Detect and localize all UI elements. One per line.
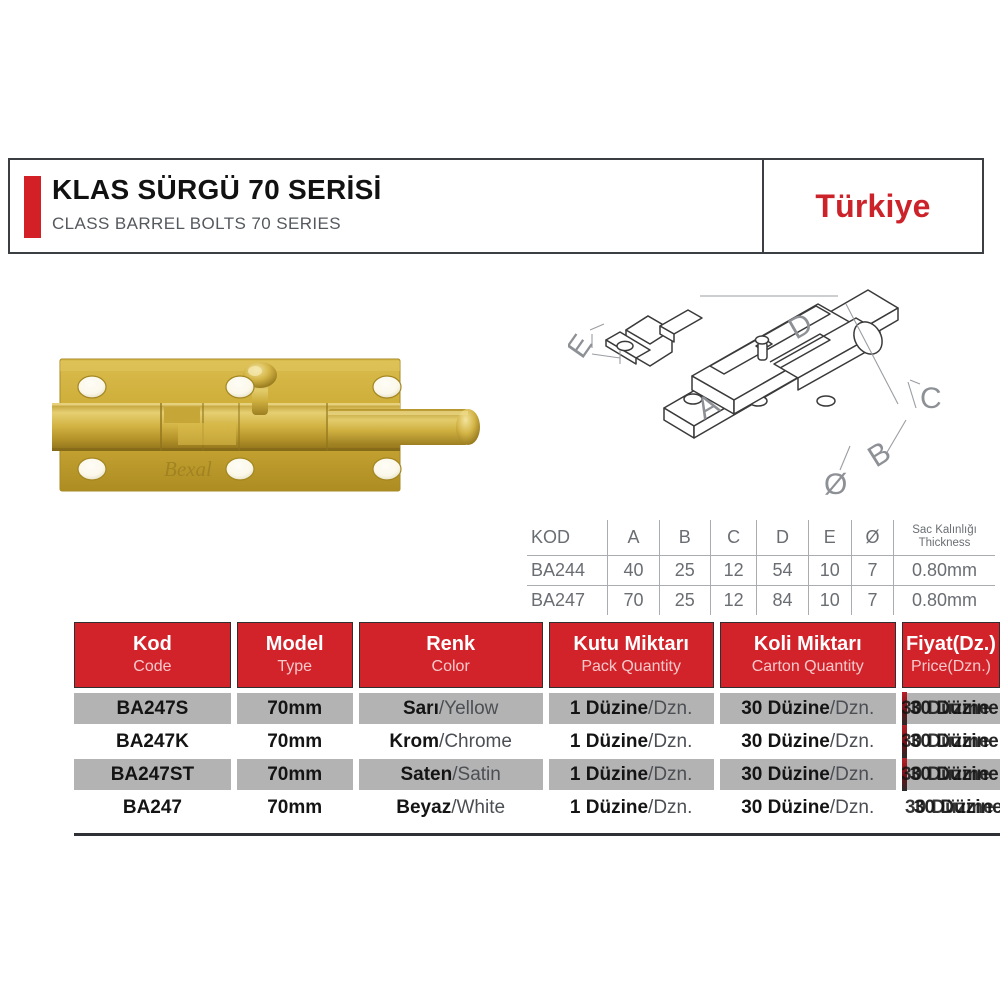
red-accent-bar (24, 176, 41, 238)
dimension-table-row: BA247 70 25 12 84 10 7 0.80mm (527, 586, 995, 616)
cell-pack-quantity: 1 Düzine/Dzn. (549, 692, 714, 725)
cell-model: 70mm (237, 725, 353, 758)
cell-price: 30 Düzine 30 Düzine 30 Düzine (902, 758, 1000, 791)
dim-cell-c: 12 (710, 556, 757, 586)
col-header-renk: Renk Color (359, 622, 543, 688)
col-header-renk-tr: Renk (426, 634, 475, 655)
col-header-kutu-en: Pack Quantity (581, 657, 681, 676)
catalog-page: KLAS SÜRGÜ 70 SERİSİ CLASS BARREL BOLTS … (0, 0, 1000, 1000)
dim-col-e: E (808, 520, 851, 556)
cell-color: Beyaz/White (359, 791, 543, 824)
col-header-kutu-tr: Kutu Miktarı (573, 634, 689, 655)
price-value: 30 Düzine 30 Düzine 30 Düzine (910, 731, 999, 753)
dim-cell-c: 12 (710, 586, 757, 616)
dim-col-d: D (757, 520, 808, 556)
cell-price: 30 Düzine 30 Düzine 30 Düzine (902, 692, 1000, 725)
brand-label: Türkiye (815, 188, 930, 225)
dim-col-c: C (710, 520, 757, 556)
dimension-table: KOD A B C D E Ø Sac Kalınlığı Thickness … (527, 520, 995, 615)
cell-price: 30 Düzine 30 Düzine 30 Düzine (902, 791, 1000, 824)
dim-cell-d: 54 (757, 556, 808, 586)
dim-label-B: B (862, 435, 896, 474)
table-row[interactable]: BA247 70mm Beyaz/White 1 Düzine/Dzn. 30 … (74, 791, 1000, 824)
dim-cell-diameter: 7 (851, 556, 893, 586)
cell-color: Sarı/Yellow (359, 692, 543, 725)
col-header-renk-en: Color (432, 657, 470, 676)
thickness-label-english: Thickness (894, 537, 995, 550)
col-header-fiyat: Fiyat(Dz.) Price(Dzn.) (902, 622, 1000, 688)
title-bar: KLAS SÜRGÜ 70 SERİSİ CLASS BARREL BOLTS … (8, 158, 984, 254)
thickness-label-turkish: Sac Kalınlığı (894, 524, 995, 537)
dim-col-a: A (608, 520, 659, 556)
isometric-drawing-svg: A B C D E Ø (568, 268, 1000, 518)
col-header-model: Model Type (237, 622, 353, 688)
col-header-model-en: Type (277, 657, 312, 676)
product-table-bottom-rule (74, 833, 1000, 836)
cell-code: BA247S (74, 692, 231, 725)
dim-col-b: B (659, 520, 710, 556)
dimension-table-header-row: KOD A B C D E Ø Sac Kalınlığı Thickness (527, 520, 995, 556)
page-title-turkish: KLAS SÜRGÜ 70 SERİSİ (52, 174, 382, 206)
dim-label-C: C (920, 382, 942, 415)
dim-cell-a: 40 (608, 556, 659, 586)
table-row[interactable]: BA247K 70mm Krom/Chrome 1 Düzine/Dzn. 30… (74, 725, 1000, 758)
dim-cell-thickness: 0.80mm (894, 556, 995, 586)
cell-model: 70mm (237, 692, 353, 725)
cell-color: Krom/Chrome (359, 725, 543, 758)
col-header-kod-en: Code (133, 657, 171, 676)
col-header-koli-miktari: Koli Miktarı Carton Quantity (720, 622, 896, 688)
dim-col-kod: KOD (527, 520, 608, 556)
cell-pack-quantity: 1 Düzine/Dzn. (549, 725, 714, 758)
dim-label-E: E (568, 329, 599, 364)
col-header-model-tr: Model (266, 634, 324, 655)
dimension-table-row: BA244 40 25 12 54 10 7 0.80mm (527, 556, 995, 586)
cell-model: 70mm (237, 758, 353, 791)
product-table: Kod Code Model Type Renk Color Kutu Mikt… (74, 622, 1000, 836)
table-row[interactable]: BA247ST 70mm Saten/Satin 1 Düzine/Dzn. 3… (74, 758, 1000, 791)
dim-cell-diameter: 7 (851, 586, 893, 616)
dim-cell-kod: BA247 (527, 586, 608, 616)
price-value: 30 Düzine 30 Düzine 30 Düzine (914, 797, 1000, 819)
dim-col-diameter: Ø (851, 520, 893, 556)
dim-cell-d: 84 (757, 586, 808, 616)
cell-carton-quantity: 30 Düzine/Dzn. (720, 758, 896, 791)
cell-pack-quantity: 1 Düzine/Dzn. (549, 758, 714, 791)
technical-drawing: A B C D E Ø (568, 268, 1000, 518)
country-brand-box: Türkiye (762, 158, 984, 254)
price-value: 30 Düzine 30 Düzine 30 Düzine (910, 698, 999, 720)
cell-pack-quantity: 1 Düzine/Dzn. (549, 791, 714, 824)
cell-code: BA247ST (74, 758, 231, 791)
cell-code: BA247 (74, 791, 231, 824)
dim-cell-e: 10 (808, 586, 851, 616)
dim-cell-kod: BA244 (527, 556, 608, 586)
cell-carton-quantity: 30 Düzine/Dzn. (720, 725, 896, 758)
dim-label-diameter: Ø (824, 468, 847, 501)
product-table-body: BA247S 70mm Sarı/Yellow 1 Düzine/Dzn. 30… (74, 692, 1000, 824)
col-header-kutu-miktari: Kutu Miktarı Pack Quantity (549, 622, 714, 688)
photo-engraving: Bexal (164, 457, 212, 481)
cell-color: Saten/Satin (359, 758, 543, 791)
dim-cell-e: 10 (808, 556, 851, 586)
cell-price: 30 Düzine 30 Düzine 30 Düzine (902, 725, 1000, 758)
table-row[interactable]: BA247S 70mm Sarı/Yellow 1 Düzine/Dzn. 30… (74, 692, 1000, 725)
col-header-fiyat-en: Price(Dzn.) (911, 657, 991, 676)
cell-model: 70mm (237, 791, 353, 824)
cell-carton-quantity: 30 Düzine/Dzn. (720, 791, 896, 824)
dim-cell-b: 25 (659, 556, 710, 586)
col-header-kod: Kod Code (74, 622, 231, 688)
page-title-english: CLASS BARREL BOLTS 70 SERIES (52, 214, 341, 234)
barrel-bolt-photo-svg: Bexal (52, 345, 492, 510)
col-header-koli-en: Carton Quantity (752, 657, 864, 676)
dim-cell-b: 25 (659, 586, 710, 616)
dim-col-thickness: Sac Kalınlığı Thickness (894, 520, 995, 556)
cell-code: BA247K (74, 725, 231, 758)
col-header-kod-tr: Kod (133, 634, 172, 655)
product-table-header: Kod Code Model Type Renk Color Kutu Mikt… (74, 622, 1000, 688)
cell-carton-quantity: 30 Düzine/Dzn. (720, 692, 896, 725)
dim-cell-a: 70 (608, 586, 659, 616)
dim-cell-thickness: 0.80mm (894, 586, 995, 616)
col-header-fiyat-tr: Fiyat(Dz.) (906, 634, 996, 655)
product-photo: Bexal (52, 345, 492, 510)
col-header-koli-tr: Koli Miktarı (754, 634, 862, 655)
price-value: 30 Düzine 30 Düzine 30 Düzine (910, 764, 999, 786)
